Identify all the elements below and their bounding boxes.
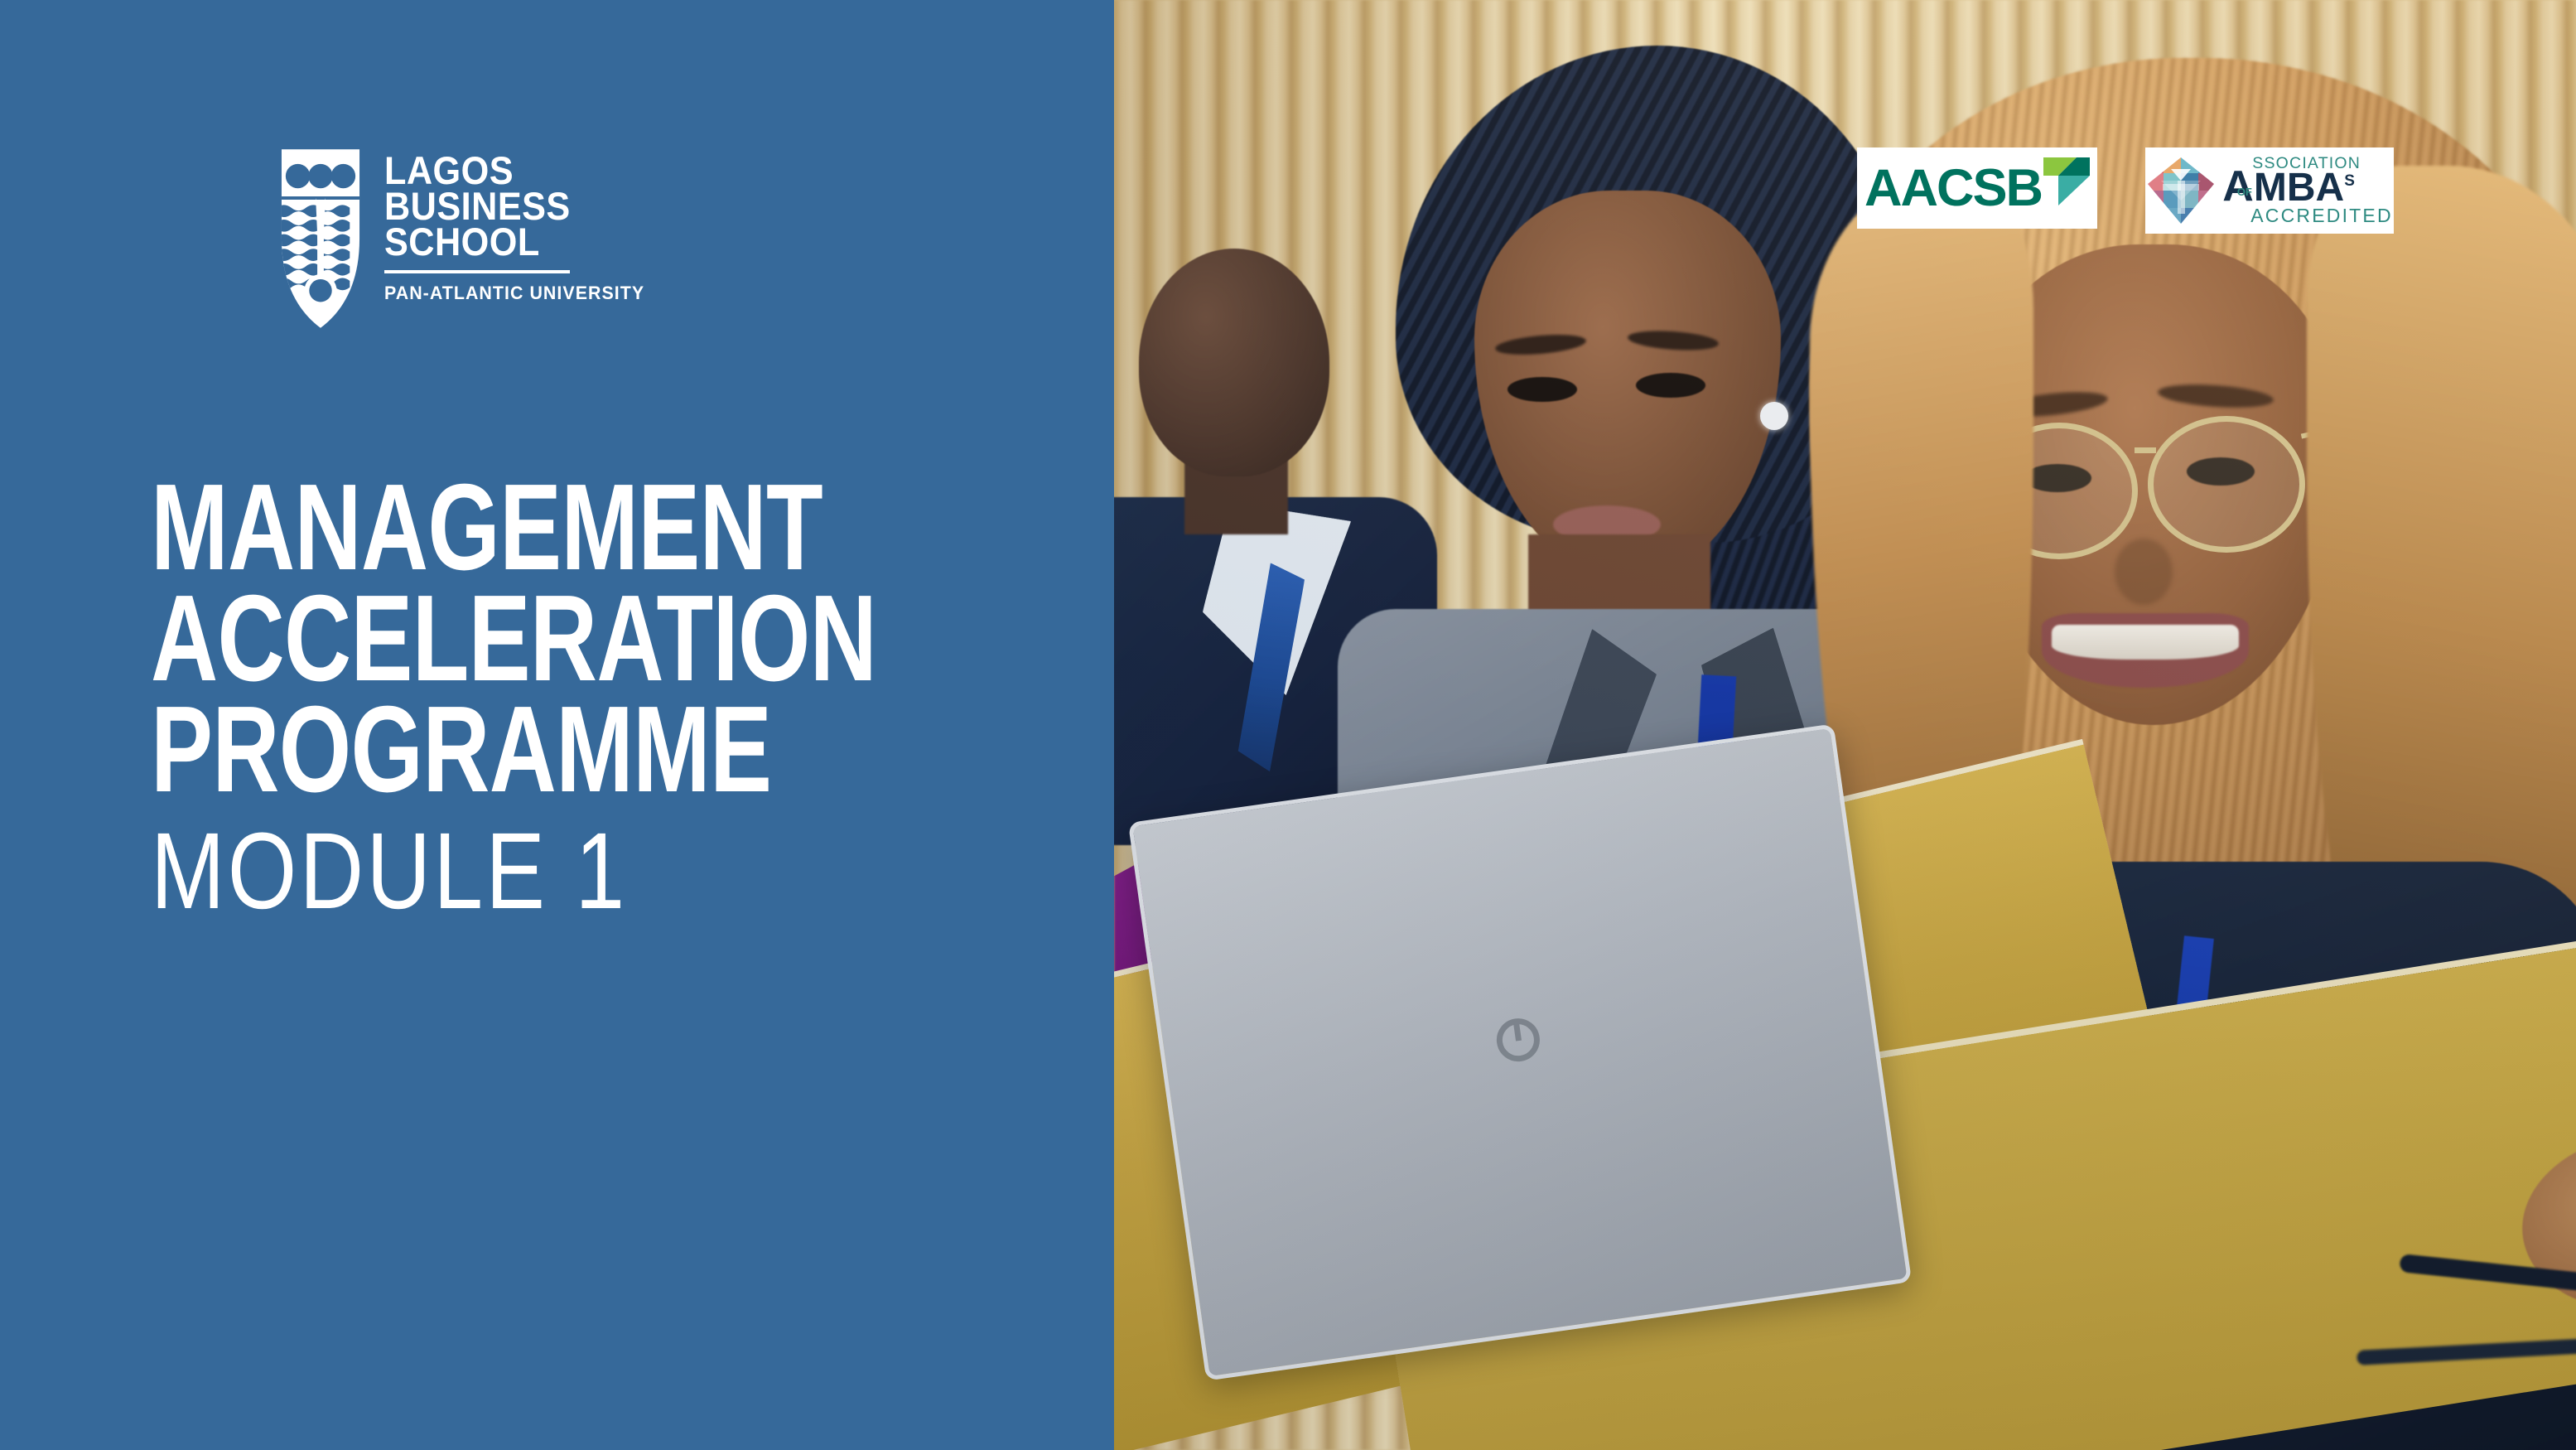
logo-line-business: BUSINESS xyxy=(384,188,636,224)
woman-right-nose xyxy=(2115,539,2173,605)
laptop xyxy=(1128,723,1912,1380)
logo-line-lagos: LAGOS xyxy=(384,152,636,188)
amba-diamond-mark-icon xyxy=(2146,156,2216,225)
aacsb-badge: AACSB xyxy=(1857,147,2097,229)
module-subtitle: MODULE 1 xyxy=(151,822,898,920)
slide-root: LBS xyxy=(0,0,2576,1450)
woman-center-earring xyxy=(1760,402,1788,430)
programme-title-block: MANAGEMENT ACCELERATION PROGRAMME MODULE… xyxy=(151,479,1062,920)
amba-plural-s: S xyxy=(2344,173,2355,189)
amba-mba-text: MBA xyxy=(2254,168,2344,208)
title-line-programme: PROGRAMME xyxy=(151,701,843,799)
accreditation-badges: AACSB xyxy=(1857,147,2394,234)
left-brand-panel: LAGOS BUSINESS SCHOOL PAN-ATLANTIC UNIVE… xyxy=(0,0,1114,1450)
aacsb-wordmark: AACSB xyxy=(1864,162,2042,215)
title-line-management: MANAGEMENT xyxy=(151,479,843,577)
woman-right-teeth xyxy=(2052,625,2239,660)
logo-line-school: SCHOOL xyxy=(384,224,636,259)
amba-badge: SSOCIATION A OF MBA S ACCREDITED xyxy=(2145,147,2394,234)
lbs-shield-crest-icon xyxy=(280,147,361,330)
man-head xyxy=(1139,249,1329,476)
amba-accredited-text: ACCREDITED xyxy=(2250,206,2393,225)
lbs-logo-wordmark: LAGOS BUSINESS SCHOOL PAN-ATLANTIC UNIVE… xyxy=(384,147,658,304)
aacsb-flag-mark-icon xyxy=(2043,157,2090,205)
woman-center-eye-right xyxy=(1636,373,1705,398)
logo-divider-rule xyxy=(384,270,570,273)
logo-subtitle-university: PAN-ATLANTIC UNIVERSITY xyxy=(384,283,644,304)
woman-right-smile xyxy=(2042,613,2249,688)
lbs-logo-lockup: LAGOS BUSINESS SCHOOL PAN-ATLANTIC UNIVE… xyxy=(280,147,658,330)
woman-center-eye-left xyxy=(1507,377,1577,402)
amba-of-text: OF xyxy=(2237,186,2252,197)
eyeglasses-lens-right xyxy=(2148,416,2305,553)
title-line-acceleration: ACCELERATION xyxy=(151,590,843,688)
eyeglasses-bridge xyxy=(2135,447,2156,453)
